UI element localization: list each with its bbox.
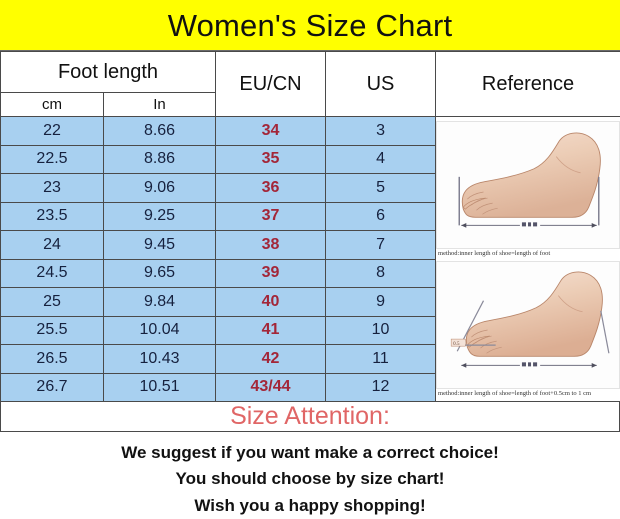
cell-in: 10.51 [104,373,216,402]
foot-profile-measure-icon [436,121,620,249]
cell-cm: 24.5 [1,259,104,288]
cell-us: 5 [326,174,436,203]
foot-profile-measure-angled-icon: 0.5 [436,261,620,389]
cell-us: 6 [326,202,436,231]
cell-eu-cn: 41 [216,316,326,345]
cell-in: 9.45 [104,231,216,260]
cell-cm: 22.5 [1,145,104,174]
table-row: 22 8.66 34 3 [1,117,620,146]
reference-block-1: method:inner length of shoe=length of fo… [436,121,620,257]
cell-in: 8.66 [104,117,216,146]
note-line: Wish you a happy shopping! [194,493,425,519]
note-line: We suggest if you want make a correct ch… [121,440,499,466]
header-cm: cm [1,93,104,117]
cell-in: 9.65 [104,259,216,288]
cell-eu-cn: 40 [216,288,326,317]
cell-eu-cn: 43/44 [216,373,326,402]
cell-us: 8 [326,259,436,288]
size-attention-notes: We suggest if you want make a correct ch… [0,432,620,519]
header-reference: Reference [436,52,620,117]
note-line: You should choose by size chart! [176,466,445,492]
cell-eu-cn: 34 [216,117,326,146]
cell-us: 9 [326,288,436,317]
cell-in: 9.25 [104,202,216,231]
cell-eu-cn: 42 [216,345,326,374]
cell-us: 7 [326,231,436,260]
reference-cell: method:inner length of shoe=length of fo… [436,117,620,402]
header-foot-length: Foot length [1,52,216,93]
cell-eu-cn: 35 [216,145,326,174]
cell-eu-cn: 36 [216,174,326,203]
chart-title-band: Women's Size Chart [0,0,620,51]
size-attention-heading: Size Attention: [230,402,390,431]
cell-us: 11 [326,345,436,374]
header-in: In [104,93,216,117]
size-chart-card: Women's Size Chart Foot length EU/CN US … [0,0,620,509]
cell-us: 10 [326,316,436,345]
reference-caption-1: method:inner length of shoe=length of fo… [436,249,620,257]
cell-us: 4 [326,145,436,174]
size-table: Foot length EU/CN US Reference cm In 22 … [0,51,620,402]
header-us: US [326,52,436,117]
cell-cm: 23.5 [1,202,104,231]
cell-cm: 26.5 [1,345,104,374]
cell-in: 9.84 [104,288,216,317]
cell-cm: 25.5 [1,316,104,345]
reference-caption-2: method:inner length of shoe=length of fo… [436,389,620,397]
cell-cm: 25 [1,288,104,317]
cell-eu-cn: 39 [216,259,326,288]
reference-stack: method:inner length of shoe=length of fo… [436,121,620,397]
svg-text:0.5: 0.5 [453,341,460,347]
reference-block-2: 0.5 method:inner leng [436,261,620,397]
cell-cm: 24 [1,231,104,260]
cell-us: 12 [326,373,436,402]
cell-in: 8.86 [104,145,216,174]
cell-in: 9.06 [104,174,216,203]
cell-in: 10.04 [104,316,216,345]
cell-cm: 23 [1,174,104,203]
size-attention-heading-row: Size Attention: [0,402,620,432]
page-title: Women's Size Chart [168,10,453,41]
cell-cm: 26.7 [1,373,104,402]
cell-cm: 22 [1,117,104,146]
cell-eu-cn: 37 [216,202,326,231]
cell-us: 3 [326,117,436,146]
header-eu-cn: EU/CN [216,52,326,117]
cell-eu-cn: 38 [216,231,326,260]
table-header-row-group: Foot length EU/CN US Reference [1,52,620,93]
cell-in: 10.43 [104,345,216,374]
